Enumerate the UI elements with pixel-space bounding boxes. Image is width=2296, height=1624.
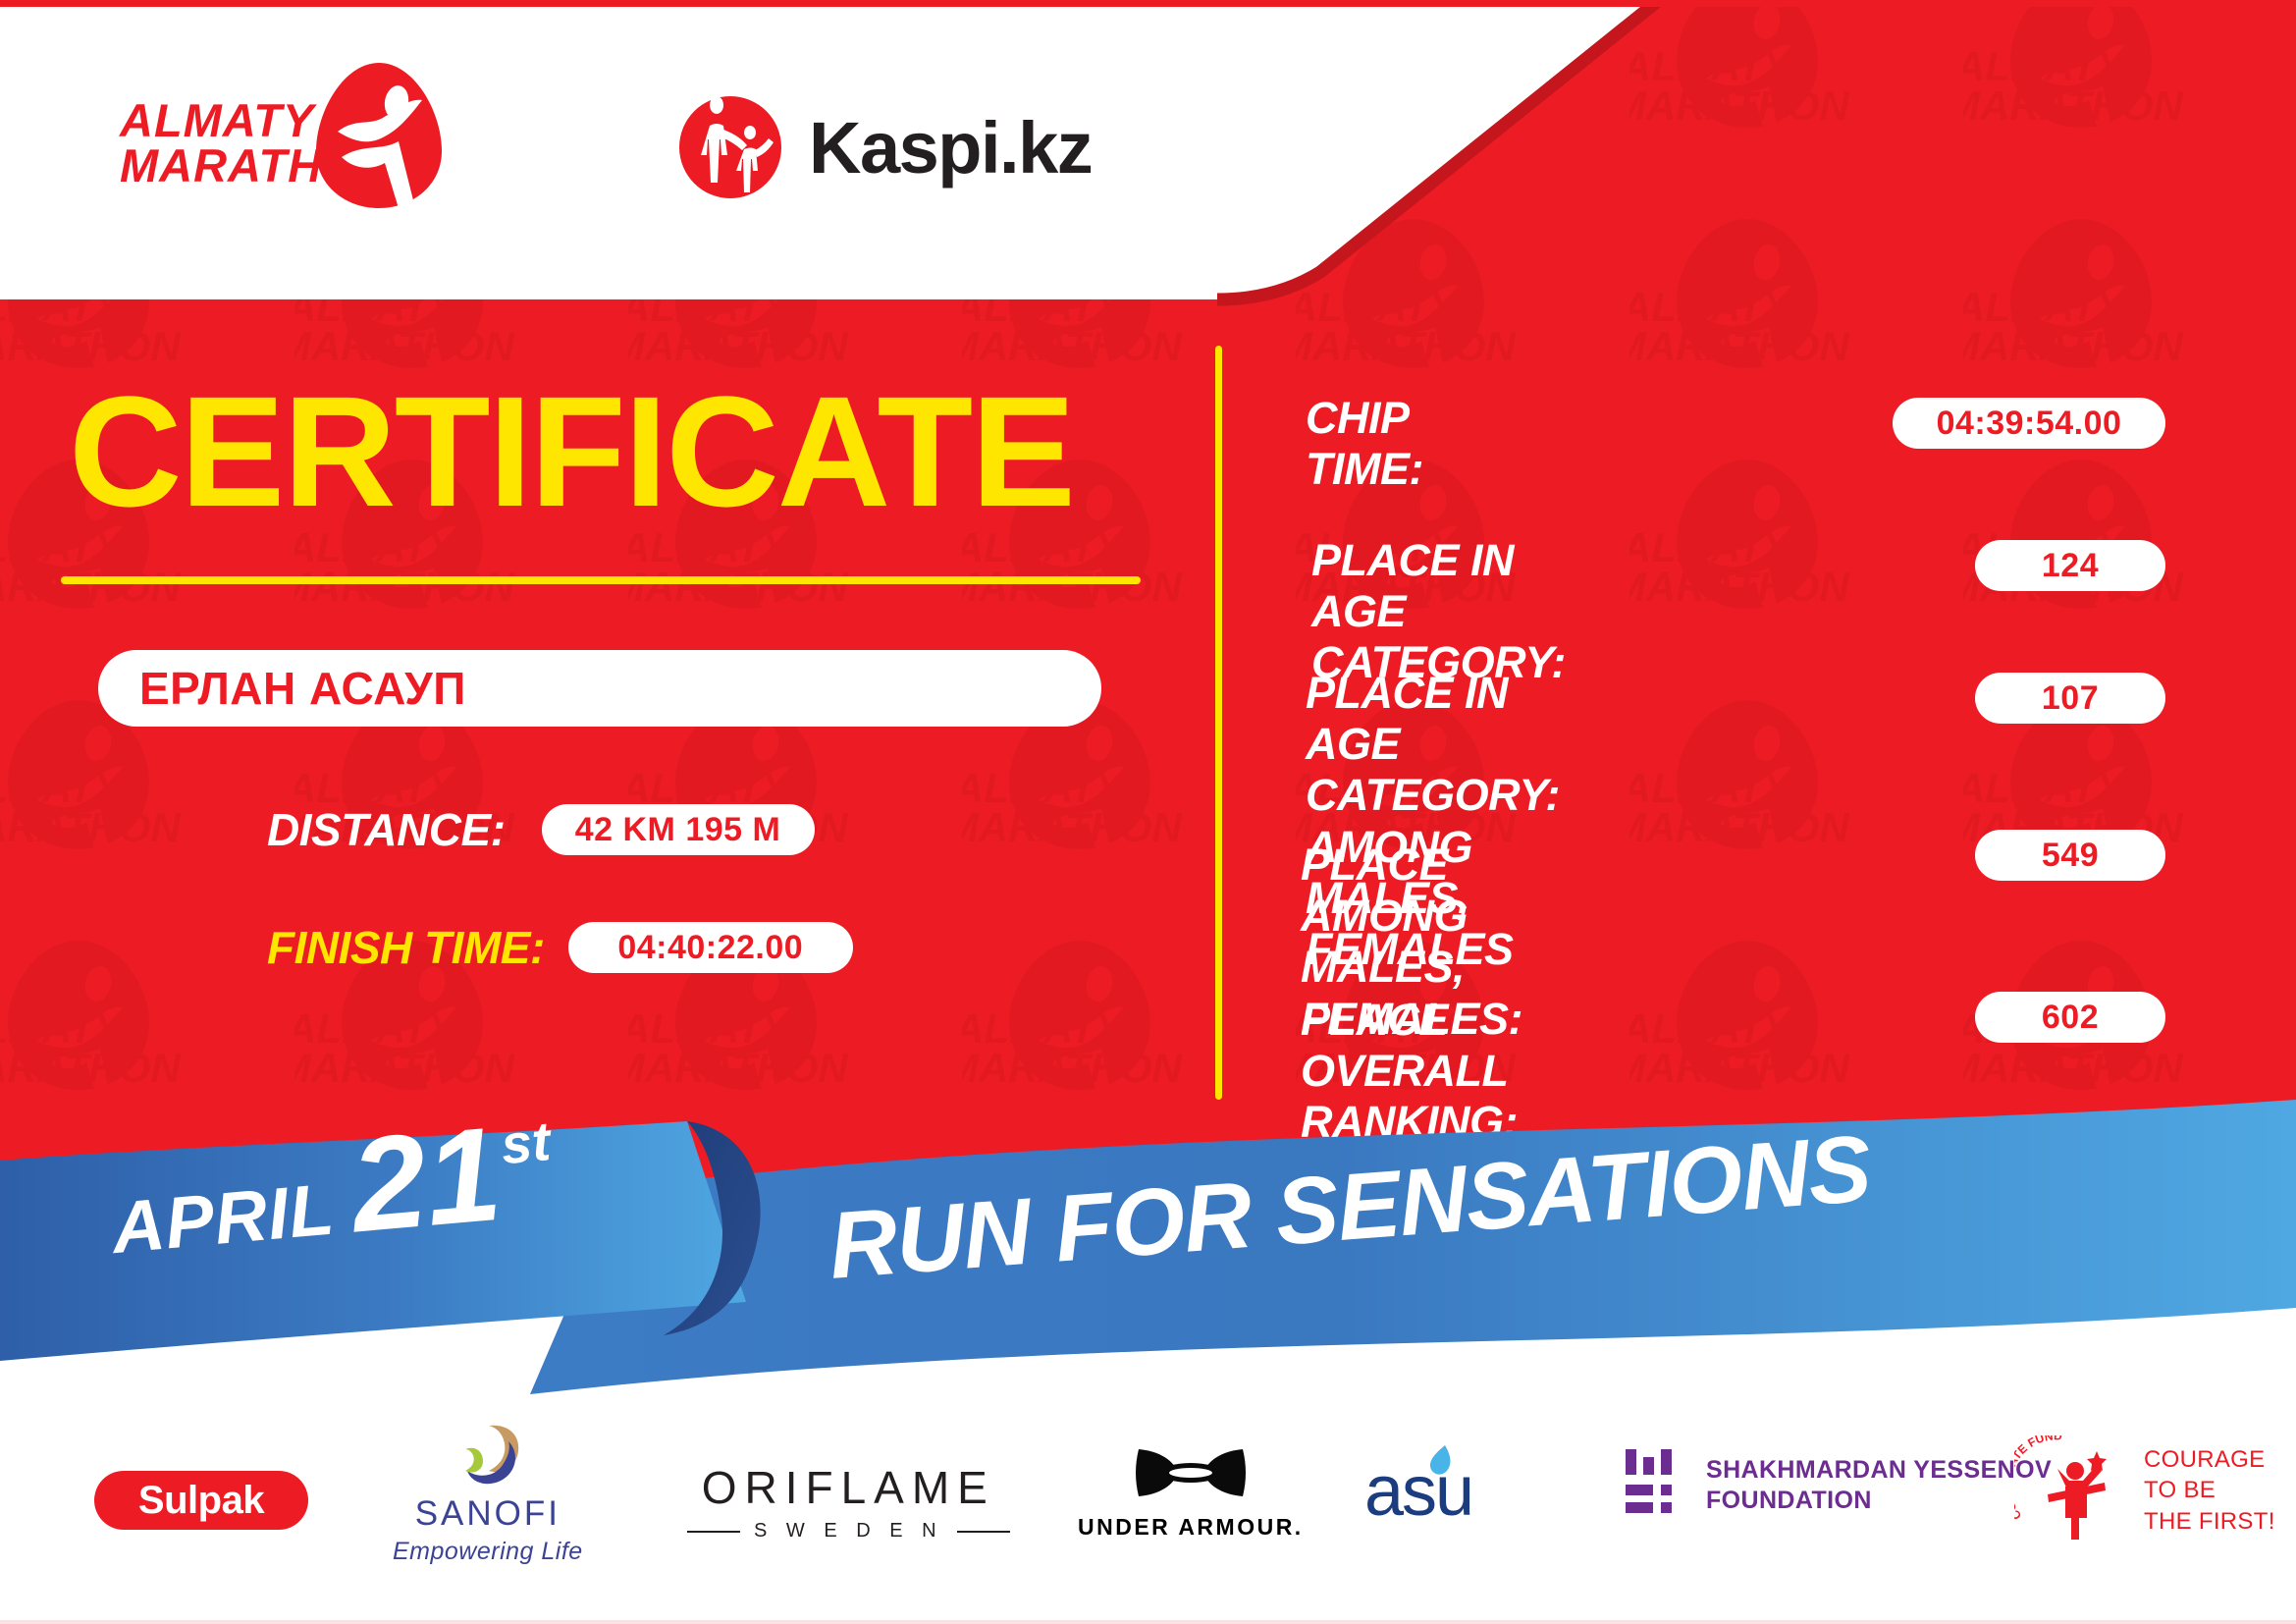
finish-time-row: FINISH TIME: 04:40:22.00 xyxy=(267,921,853,974)
participant-name-field[interactable]: ЕРЛАН АСАУП xyxy=(98,650,1101,727)
place-overall-ranking-value: 602 xyxy=(1975,992,2165,1043)
top-red-rule xyxy=(0,0,2296,7)
event-day-suffix: st xyxy=(499,1109,553,1176)
kaspi-family-circle-icon xyxy=(677,94,783,200)
sponsor-strip: Sulpak SANOFI Empowering Life ORIFLAME S… xyxy=(0,1404,2296,1600)
sponsor-corporate-fund[interactable]: CORPORATE FUND COURAGE TO BE THE FIRST! xyxy=(2014,1435,2275,1545)
courage-to-be-the-first-icon: CORPORATE FUND xyxy=(2014,1435,2130,1545)
yessenov-tagline: FOUNDATION xyxy=(1706,1486,2052,1516)
oriflame-sub: S W E D E N xyxy=(687,1520,1010,1543)
oriflame-rule-left xyxy=(687,1531,740,1533)
svg-text:CORPORATE FUND: CORPORATE FUND xyxy=(2014,1435,2062,1522)
under-armour-label: UNDER ARMOUR. xyxy=(1078,1514,1304,1541)
sulpak-label: Sulpak xyxy=(138,1479,264,1523)
sponsor-under-armour[interactable]: UNDER ARMOUR. xyxy=(1078,1445,1304,1541)
certificate-page: ALMATY MARATHON ALMATY MARATHON xyxy=(0,0,2296,1624)
header: ALMATY MARATHON xyxy=(0,0,1227,275)
yessenov-label: SHAKHMARDAN YESSENOV xyxy=(1706,1455,2052,1486)
kaspi-wordmark: Kaspi.kz xyxy=(809,106,1092,189)
page-title: CERTIFICATE xyxy=(69,373,1074,530)
event-day: 21 xyxy=(347,1113,505,1246)
courage-line3: THE FIRST! xyxy=(2144,1506,2275,1537)
under-armour-icon xyxy=(1133,1445,1249,1508)
sponsor-yessenov-foundation[interactable]: SHAKHMARDAN YESSENOV FOUNDATION xyxy=(1622,1447,2052,1524)
distance-label: DISTANCE: xyxy=(267,803,506,856)
chip-time-value: 04:39:54.00 xyxy=(1893,398,2165,449)
bottom-rule xyxy=(0,1620,2296,1624)
courage-line1: COURAGE xyxy=(2144,1444,2275,1475)
place-age-category-label: PLACE IN AGE CATEGORY: xyxy=(1311,535,1566,689)
sponsor-asu[interactable]: asu xyxy=(1364,1451,1472,1532)
yessenov-bars-icon xyxy=(1622,1447,1684,1524)
chip-time-label: CHIP TIME: xyxy=(1306,393,1423,495)
almaty-marathon-runner-drop-icon xyxy=(312,61,446,210)
oriflame-label: ORIFLAME xyxy=(702,1461,995,1514)
almaty-marathon-logo[interactable]: ALMATY MARATHON xyxy=(120,61,444,218)
sulpak-logo: Sulpak xyxy=(94,1471,308,1530)
oriflame-rule-right xyxy=(957,1531,1010,1533)
title-underline xyxy=(61,576,1141,584)
sanofi-label: SANOFI xyxy=(415,1494,561,1534)
participant-name-value: ЕРЛАН АСАУП xyxy=(98,662,466,715)
asu-droplet-icon xyxy=(1425,1443,1455,1477)
finish-time-label: FINISH TIME: xyxy=(267,921,545,974)
courage-line2: TO BE xyxy=(2144,1475,2275,1505)
column-divider xyxy=(1215,346,1222,1100)
sanofi-mark-icon xyxy=(450,1422,526,1490)
courage-label: COURAGE TO BE THE FIRST! xyxy=(2144,1444,2275,1537)
sponsor-sanofi[interactable]: SANOFI Empowering Life xyxy=(393,1422,583,1566)
place-age-category-among-value: 107 xyxy=(1975,673,2165,724)
place-age-category-value: 124 xyxy=(1975,540,2165,591)
sponsor-oriflame[interactable]: ORIFLAME S W E D E N xyxy=(687,1461,1010,1543)
sanofi-tagline: Empowering Life xyxy=(393,1538,583,1566)
finish-time-value: 04:40:22.00 xyxy=(568,922,853,973)
distance-value: 42 KM 195 M xyxy=(542,804,815,855)
asu-label: asu xyxy=(1364,1452,1472,1531)
oriflame-tagline: S W E D E N xyxy=(754,1520,943,1543)
place-among-males-females-value: 549 xyxy=(1975,830,2165,881)
kaspi-logo[interactable]: Kaspi.kz xyxy=(677,94,1092,200)
sponsor-sulpak[interactable]: Sulpak xyxy=(94,1471,308,1530)
distance-row: DISTANCE: 42 KM 195 M xyxy=(267,803,815,856)
